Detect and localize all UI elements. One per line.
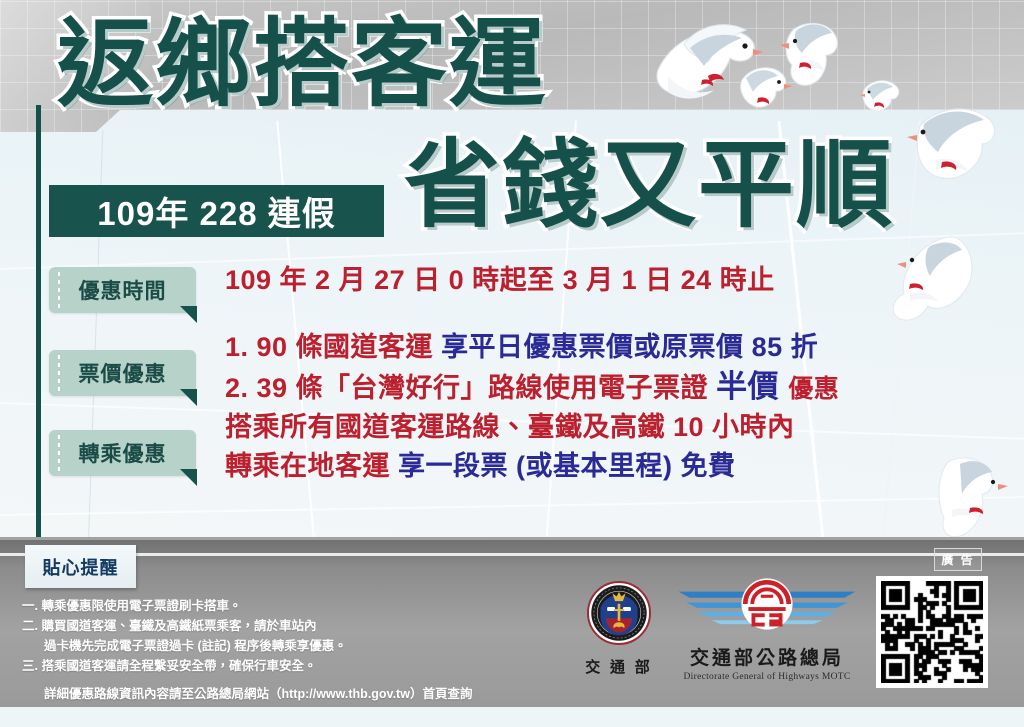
line-discount-period: 109 年 2 月 27 日 0 時起至 3 月 1 日 24 時止: [225, 255, 775, 297]
tag-transfer-discount: 轉乘優惠: [49, 430, 196, 476]
tag-label: 轉乘優惠: [79, 438, 167, 468]
fineprint-line: 三. 搭乘國道客運請全程繫妥安全帶，確保行車安全。: [22, 656, 542, 676]
tag-label: 票價優惠: [79, 358, 167, 388]
row-lines: 搭乘所有國道客運路線、臺鐵及高鐵 10 小時內 轉乘在地客運 享一段票 (或基本…: [225, 408, 795, 486]
text-segment: 搭乘所有國道客運路線、臺鐵及高鐵 10 小時內: [225, 412, 795, 442]
footer-top-edge: [0, 537, 1024, 540]
text-segment-highlight: 享一段票 (或基本里程) 免費: [398, 451, 736, 481]
fineprint-url-line: 詳細優惠路線資訊內容請至公路總局網站（http://www.thb.gov.tw…: [22, 676, 542, 704]
text-segment: 1. 90 條國道客運: [225, 332, 441, 362]
row-lines: 109 年 2 月 27 日 0 時起至 3 月 1 日 24 時止: [225, 255, 775, 297]
line-transfer-2: 轉乘在地客運 享一段票 (或基本里程) 免費: [225, 447, 795, 486]
motc-seal-logo: 交 通 部: [580, 580, 658, 677]
row-lines: 1. 90 條國道客運 享平日優惠票價或原票價 85 折 2. 39 條「台灣好…: [225, 328, 839, 409]
notice-title-label: 貼心提醒: [43, 554, 119, 580]
fineprint-line: 一. 轉乘優惠限使用電子票證刷卡搭車。: [22, 596, 542, 616]
text-segment: 轉乘在地客運: [225, 451, 398, 481]
qr-code[interactable]: [876, 576, 988, 688]
dove-icon: [938, 448, 1014, 542]
motc-seal-icon: [586, 580, 652, 646]
dove-icon: [890, 232, 980, 328]
tag-discount-period: 優惠時間: [49, 267, 196, 313]
thb-wings-icon: [672, 573, 862, 635]
line-transfer-1: 搭乘所有國道客運路線、臺鐵及高鐵 10 小時內: [225, 408, 795, 447]
text-segment-highlight: 半價: [716, 369, 788, 404]
text-segment: 2. 39 條「台灣好行」路線使用電子票證: [225, 373, 716, 403]
info-row-fare-discount: 票價優惠 1. 90 條國道客運 享平日優惠票價或原票價 85 折 2. 39 …: [49, 328, 839, 409]
info-row-transfer-discount: 轉乘優惠 搭乘所有國道客運路線、臺鐵及高鐵 10 小時內 轉乘在地客運 享一段票…: [49, 408, 795, 486]
thb-logo: 交通部公路總局 Directorate General of Highways …: [672, 573, 862, 682]
fineprint-block: 一. 轉乘優惠限使用電子票證刷卡搭車。 二. 購買國道客運、臺鐵及高鐵紙票乘客，…: [22, 596, 542, 704]
notice-title-box: 貼心提醒: [25, 545, 136, 588]
motc-caption: 交 通 部: [580, 656, 658, 677]
tag-fare-discount: 票價優惠: [49, 350, 196, 396]
dove-icon: [906, 100, 1004, 192]
poster-root: 返鄉搭客運 省錢又平順 109年 228 連假 優惠時間 109 年 2 月 2…: [0, 0, 1024, 727]
holiday-banner-label: 109年 228 連假: [97, 187, 335, 235]
fineprint-line: 過卡機先完成電子票證過卡 (註記) 程序後轉乘享優惠。: [22, 636, 542, 656]
info-row-discount-period: 優惠時間 109 年 2 月 27 日 0 時起至 3 月 1 日 24 時止: [49, 255, 775, 313]
line-fare-1: 1. 90 條國道客運 享平日優惠票價或原票價 85 折: [225, 328, 839, 367]
thb-caption-zh: 交通部公路總局: [672, 643, 862, 670]
page-title-line2: 省錢又平順: [404, 133, 894, 237]
holiday-banner: 109年 228 連假: [49, 185, 384, 237]
dove-icon: [860, 74, 904, 116]
page-title-line1: 返鄉搭客運: [57, 12, 547, 116]
thb-caption-en: Directorate General of Highways MOTC: [672, 672, 862, 682]
fineprint-line: 二. 購買國道客運、臺鐵及高鐵紙票乘客，請於車站內: [22, 616, 542, 636]
footer-highlight-line: [0, 553, 1024, 556]
green-vertical-rule: [36, 105, 41, 550]
dove-icon: [736, 58, 794, 114]
text-segment: 優惠: [788, 375, 839, 403]
text-segment-highlight: 享平日優惠票價或原票價 85 折: [441, 332, 818, 362]
tag-label: 優惠時間: [79, 275, 167, 305]
ad-badge: 廣 告: [934, 548, 982, 571]
line-fare-2: 2. 39 條「台灣好行」路線使用電子票證 半價 優惠: [225, 367, 839, 409]
text-segment: 109 年 2 月 27 日 0 時起至 3 月 1 日 24 時止: [225, 265, 775, 295]
ad-badge-label: 廣 告: [941, 551, 974, 568]
